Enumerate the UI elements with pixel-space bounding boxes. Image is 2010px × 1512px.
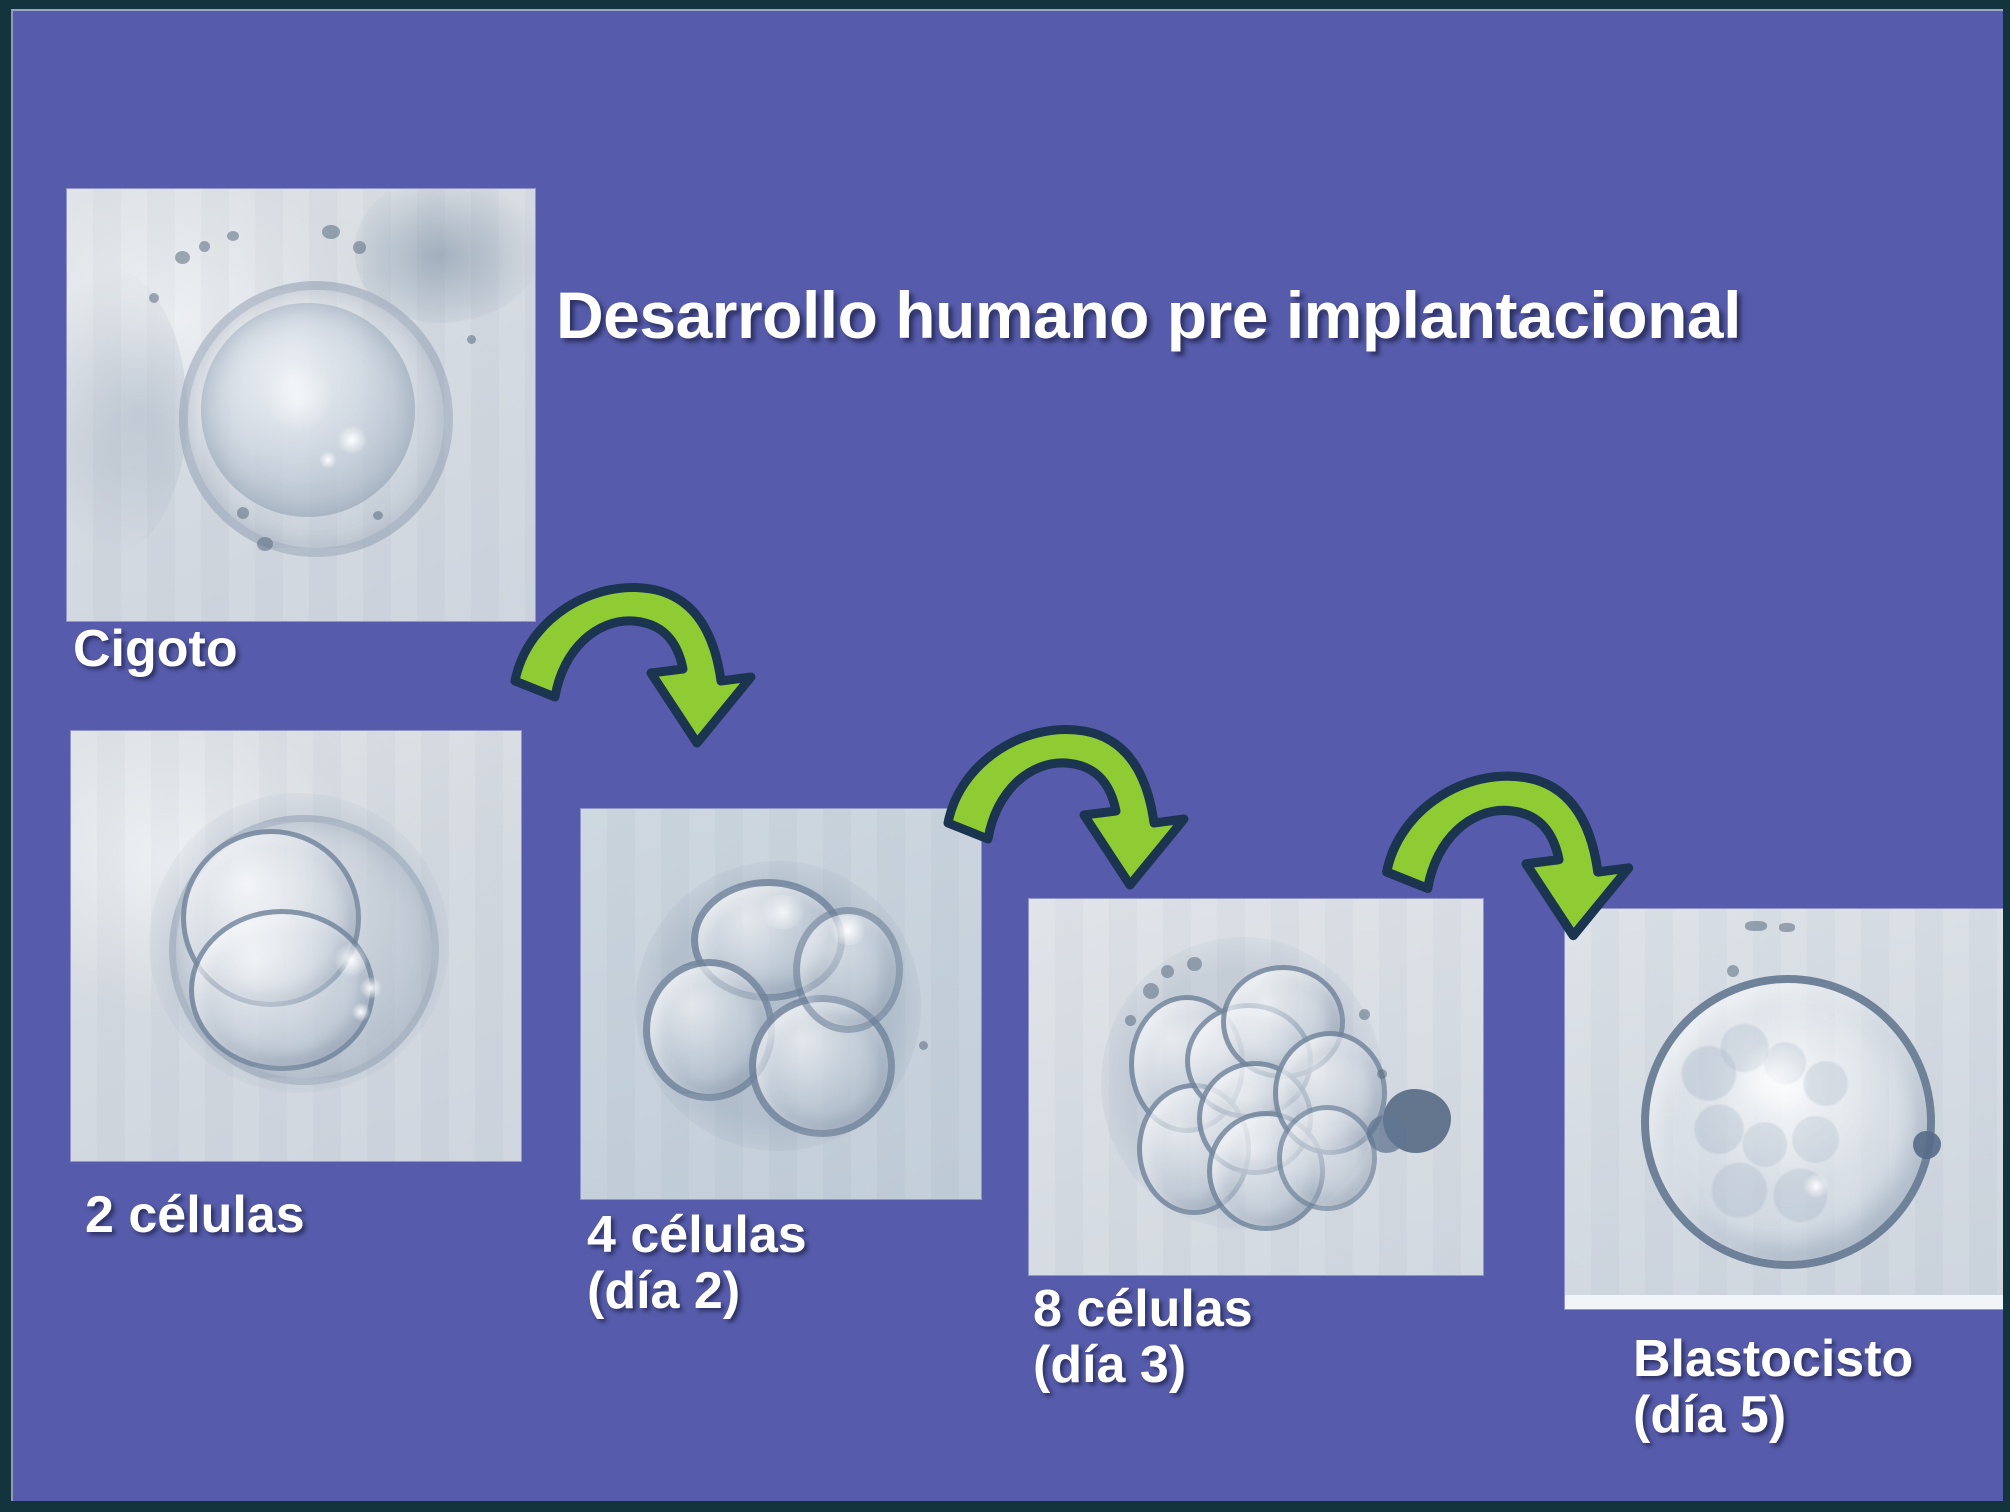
vacuole-highlight <box>1803 1173 1829 1199</box>
vacuole-highlight-small <box>359 977 383 999</box>
debris-speck <box>1779 923 1795 932</box>
fragment-highlight <box>827 915 869 945</box>
bottom-light-strip <box>1565 1295 2010 1309</box>
vacuole-highlight-small <box>319 451 337 469</box>
blastomere <box>1277 1105 1377 1211</box>
micrograph-2-cell-embryo <box>71 731 521 1161</box>
blastomere-highlight <box>757 895 809 929</box>
debris-speck <box>227 231 239 241</box>
debris-speck <box>1359 1009 1370 1020</box>
debris-speck <box>1161 965 1174 978</box>
debris-speck <box>257 537 273 551</box>
debris-speck <box>149 293 159 303</box>
debris-speck <box>237 507 249 519</box>
micrograph-4-cell-embryo <box>581 809 981 1199</box>
debris-speck <box>175 251 190 264</box>
debris-speck <box>1377 1069 1387 1079</box>
debris-speck <box>353 241 366 254</box>
stage-label-4-celulas: 4 células (día 2) <box>587 1207 807 1319</box>
stage-label-cigoto: Cigoto <box>73 621 238 677</box>
micrograph-8-cell-embryo <box>1029 899 1483 1275</box>
slide-canvas: Desarrollo humano pre implantacional Cig… <box>0 0 2010 1512</box>
page-title: Desarrollo humano pre implantacional <box>556 277 1996 353</box>
debris-speck <box>322 225 340 239</box>
micrograph-zygote <box>67 189 535 621</box>
stage-label-blastocisto: Blastocisto (día 5) <box>1633 1331 1913 1443</box>
debris-speck <box>467 335 476 344</box>
arrow-4celulas-to-8celulas <box>929 703 1229 903</box>
blastomere <box>189 909 375 1071</box>
debris-speck <box>199 241 210 252</box>
stage-label-8-celulas: 8 células (día 3) <box>1033 1281 1253 1393</box>
pronucleus-highlight <box>263 365 335 431</box>
arrow-cigoto-to-2celulas <box>501 561 791 761</box>
arrow-8celulas-to-blastocisto <box>1371 749 1671 954</box>
debris-speck <box>1727 965 1739 977</box>
vacuole-highlight-small <box>351 1003 371 1021</box>
debris-speck <box>1143 983 1159 999</box>
debris-speck <box>1125 1015 1136 1026</box>
vacuole-highlight <box>333 943 369 977</box>
debris-speck <box>373 511 383 520</box>
micrograph-blastocyst <box>1565 909 2010 1309</box>
debris-speck <box>1187 957 1202 971</box>
blastocoel-highlight <box>1735 1043 1813 1115</box>
debris-speck <box>1745 921 1767 931</box>
stage-label-2-celulas: 2 células <box>85 1187 305 1243</box>
vacuole-highlight <box>337 425 367 455</box>
debris-speck <box>919 1041 928 1050</box>
